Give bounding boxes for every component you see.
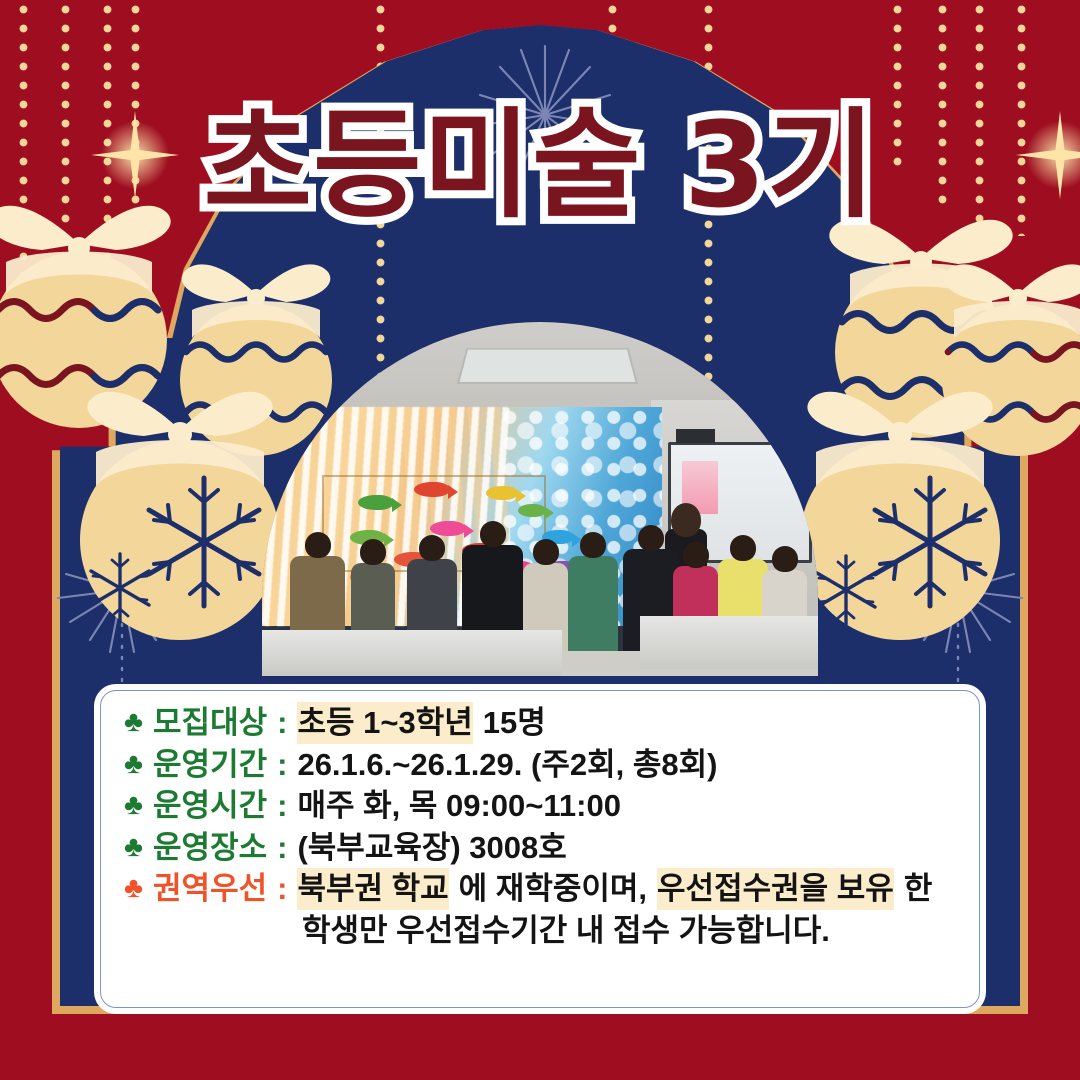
info-panel: ♣ 모집대상 : 초등 1~3학년 15명 ♣ 운영기간 : 26.1.6.~2… (94, 684, 986, 1014)
fish-green-1 (358, 495, 394, 510)
info-row-target: ♣ 모집대상 : 초등 1~3학년 15명 (124, 702, 962, 744)
info-value-place: (북부교육장) 3008호 (297, 827, 566, 869)
class-photo (262, 322, 818, 676)
info-value-period: 26.1.6.~26.1.29. (주2회, 총8회) (297, 744, 717, 786)
info-row-place: ♣ 운영장소 : (북부교육장) 3008호 (124, 827, 962, 869)
photo-child (568, 556, 618, 655)
info-priority-highlight-2: 우선접수권을 보유 (657, 868, 894, 910)
info-sep: : (277, 868, 287, 910)
info-sep: : (277, 785, 287, 827)
info-sep: : (277, 702, 287, 744)
club-icon-red: ♣ (124, 868, 143, 909)
info-value-highlight: 초등 1~3학년 (297, 702, 472, 744)
info-label-target: 모집대상 (153, 702, 267, 744)
photo-desk-right (640, 616, 818, 669)
club-icon-green: ♣ (124, 702, 143, 743)
info-priority-line2: 학생만 우선접수기간 내 접수 가능합니다. (124, 910, 962, 952)
info-value-time: 매주 화, 목 09:00~11:00 (297, 785, 621, 827)
fish-pink-1 (430, 521, 466, 536)
info-row-priority: ♣ 권역우선 : 북부권 학교 에 재학중이며, 우선접수권을 보유 한 (124, 868, 962, 910)
info-label-priority: 권역우선 (153, 868, 267, 910)
club-icon-green: ♣ (124, 785, 143, 826)
poster-root: 초등미술 3기 (0, 0, 1080, 1080)
info-row-time: ♣ 운영시간 : 매주 화, 목 09:00~11:00 (124, 785, 962, 827)
info-sep: : (277, 744, 287, 786)
info-label-period: 운영기간 (153, 744, 267, 786)
info-priority-highlight-1: 북부권 학교 (297, 868, 448, 910)
info-rows: ♣ 모집대상 : 초등 1~3학년 15명 ♣ 운영기간 : 26.1.6.~2… (124, 702, 962, 951)
photo-desk-left (262, 630, 562, 676)
fish-red-1 (414, 482, 450, 497)
fish-yellow-1 (486, 486, 518, 500)
info-sep: : (277, 827, 287, 869)
club-icon-green: ♣ (124, 744, 143, 785)
info-label-place: 운영장소 (153, 827, 267, 869)
info-value-rest: 15명 (483, 702, 546, 744)
info-label-time: 운영시간 (153, 785, 267, 827)
poster-title: 초등미술 3기 (0, 106, 1080, 224)
club-icon-green: ♣ (124, 827, 143, 868)
fish-green-3 (518, 504, 546, 517)
info-priority-text-1: 에 재학중이며, (459, 868, 647, 910)
info-row-period: ♣ 운영기간 : 26.1.6.~26.1.29. (주2회, 총8회) (124, 744, 962, 786)
info-priority-text-2: 한 (904, 868, 933, 910)
